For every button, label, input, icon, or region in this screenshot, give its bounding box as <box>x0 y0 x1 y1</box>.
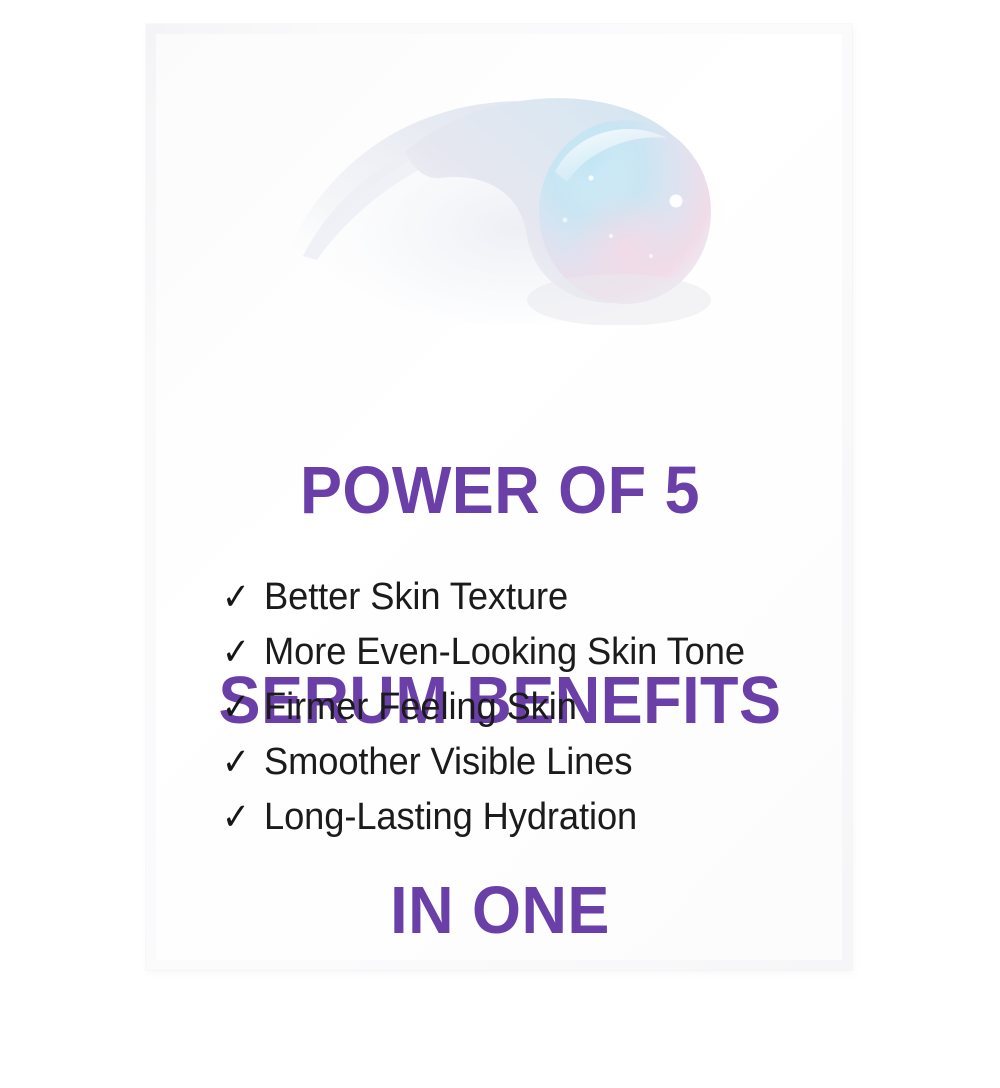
headline-line-3: IN ONE <box>30 876 970 946</box>
benefit-label: Long-Lasting Hydration <box>264 798 637 836</box>
check-icon: ✓ <box>222 688 261 726</box>
list-item: ✓ Better Skin Texture <box>222 578 842 633</box>
list-item: ✓ Long-Lasting Hydration <box>222 798 842 853</box>
list-item: ✓ More Even-Looking Skin Tone <box>222 633 842 688</box>
list-item: ✓ Firmer Feeling Skin <box>222 688 842 743</box>
check-icon: ✓ <box>222 633 261 671</box>
check-icon: ✓ <box>222 578 261 616</box>
benefit-label: Smoother Visible Lines <box>264 743 632 781</box>
check-icon: ✓ <box>222 743 261 781</box>
headline-line-1: POWER OF 5 <box>30 456 970 526</box>
benefit-label: Firmer Feeling Skin <box>264 688 577 726</box>
check-icon: ✓ <box>222 798 261 836</box>
benefits-list: ✓ Better Skin Texture ✓ More Even-Lookin… <box>222 578 842 853</box>
product-claim-image: POWER OF 5 SERUM BENEFITS IN ONE ✓ Bette… <box>0 0 1000 1000</box>
benefit-label: Better Skin Texture <box>264 578 568 616</box>
benefit-label: More Even-Looking Skin Tone <box>264 633 745 671</box>
list-item: ✓ Smoother Visible Lines <box>222 743 842 798</box>
